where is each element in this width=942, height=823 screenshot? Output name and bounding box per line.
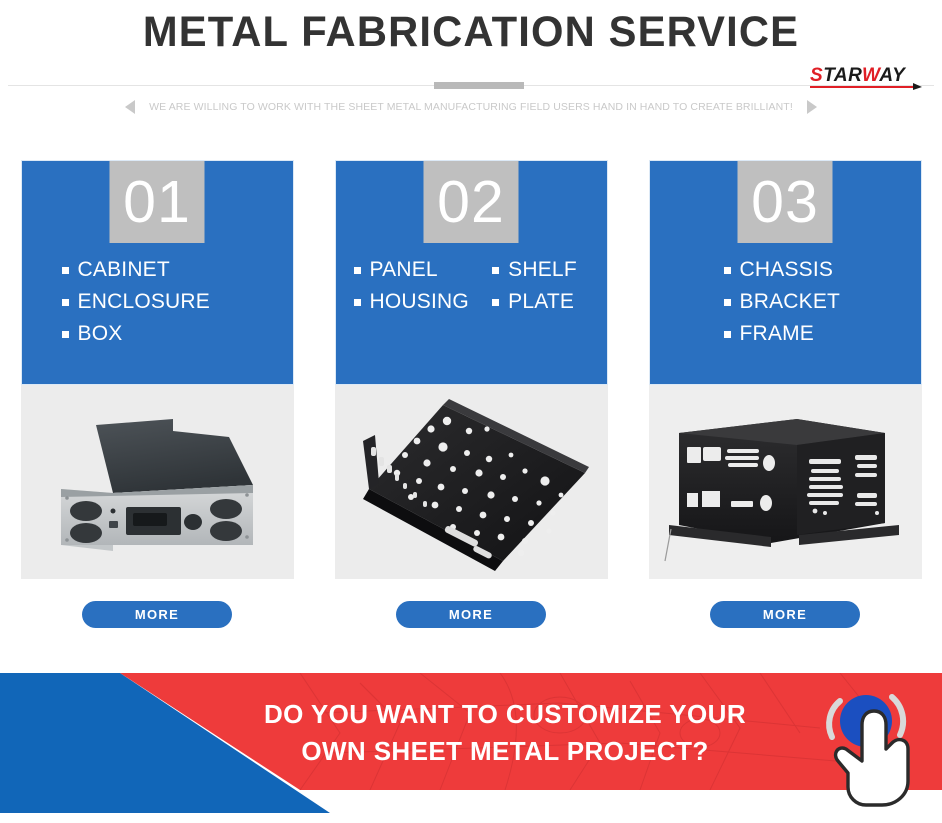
square-bullet-icon	[724, 267, 731, 274]
list-item-label: CHASSIS	[740, 257, 834, 283]
square-bullet-icon	[62, 267, 69, 274]
card-number-01: 01	[123, 173, 191, 232]
page-header: METAL FABRICATION SERVICE STARWAY WE ARE…	[0, 0, 942, 140]
card-bullet-area-01: CABINET ENCLOSURE BOX	[22, 257, 293, 347]
product-card-02: 02 PANEL HOUSING	[335, 160, 608, 628]
more-row-02: MORE	[335, 601, 608, 628]
perforated-panel-illustration	[335, 385, 608, 579]
list-item: HOUSING	[354, 289, 493, 315]
card-number-02: 02	[437, 173, 505, 232]
product-card-01: 01 CABINET ENCLOSURE BOX	[21, 160, 294, 628]
cta-line-2: OWN SHEET METAL PROJECT?	[180, 733, 830, 770]
list-item: CABINET	[62, 257, 279, 283]
list-item: BOX	[62, 321, 279, 347]
more-row-01: MORE	[21, 601, 294, 628]
logo-letters-tar: TAR	[823, 65, 862, 86]
list-item: ENCLOSURE	[62, 289, 279, 315]
metal-chassis-illustration	[649, 385, 922, 579]
more-row-03: MORE	[649, 601, 922, 628]
list-item-label: HOUSING	[370, 289, 469, 315]
square-bullet-icon	[354, 267, 361, 274]
logo-letter-s: S	[810, 65, 823, 86]
card-bullet-area-02: PANEL HOUSING SHELF	[336, 257, 607, 315]
list-item-label: PLATE	[508, 289, 574, 315]
cta-line-1: DO YOU WANT TO CUSTOMIZE YOUR	[180, 696, 830, 733]
square-bullet-icon	[62, 299, 69, 306]
list-item: PANEL	[354, 257, 493, 283]
card-number-badge-01: 01	[110, 161, 205, 243]
logo-wordmark: STARWAY	[810, 66, 905, 85]
square-bullet-icon	[354, 299, 361, 306]
list-item: CHASSIS	[724, 257, 907, 283]
card-number-badge-03: 03	[738, 161, 833, 243]
square-bullet-icon	[492, 267, 499, 274]
card-number-03: 03	[751, 173, 819, 232]
list-item: PLATE	[492, 289, 592, 315]
metal-cabinet-illustration	[21, 385, 294, 579]
square-bullet-icon	[492, 299, 499, 306]
product-image-02	[335, 385, 608, 579]
divider-tab	[434, 82, 524, 89]
square-bullet-icon	[724, 331, 731, 338]
logo-letter-w: W	[862, 65, 879, 86]
more-button-03[interactable]: MORE	[710, 601, 860, 628]
logo-letters-ay: AY	[879, 65, 905, 86]
cta-banner-text: DO YOU WANT TO CUSTOMIZE YOUR OWN SHEET …	[180, 696, 830, 770]
prev-arrow-icon[interactable]	[125, 100, 135, 114]
page-title: METAL FABRICATION SERVICE	[14, 0, 928, 57]
starway-logo: STARWAY	[810, 66, 914, 90]
logo-underline-swoosh	[810, 86, 914, 88]
list-item-label: PANEL	[370, 257, 438, 283]
product-image-01	[21, 385, 294, 579]
marquee-text: WE ARE WILLING TO WORK WITH THE SHEET ME…	[149, 101, 793, 113]
list-item-label: ENCLOSURE	[78, 289, 211, 315]
list-item-label: SHELF	[508, 257, 577, 283]
click-hand-icon[interactable]	[818, 677, 928, 812]
more-button-02[interactable]: MORE	[396, 601, 546, 628]
card-bullet-area-03: CHASSIS BRACKET FRAME	[650, 257, 921, 347]
list-item: BRACKET	[724, 289, 907, 315]
list-item: FRAME	[724, 321, 907, 347]
next-arrow-icon[interactable]	[807, 100, 817, 114]
list-item-label: BRACKET	[740, 289, 841, 315]
card-header-02: 02 PANEL HOUSING	[335, 160, 608, 385]
product-card-list: 01 CABINET ENCLOSURE BOX	[0, 160, 942, 628]
list-item-label: BOX	[78, 321, 123, 347]
card-number-badge-02: 02	[424, 161, 519, 243]
cta-banner[interactable]: DO YOU WANT TO CUSTOMIZE YOUR OWN SHEET …	[0, 663, 942, 823]
product-image-03	[649, 385, 922, 579]
card-header-01: 01 CABINET ENCLOSURE BOX	[21, 160, 294, 385]
list-item: SHELF	[492, 257, 592, 283]
list-item-label: FRAME	[740, 321, 815, 347]
marquee-banner: WE ARE WILLING TO WORK WITH THE SHEET ME…	[0, 100, 942, 114]
list-item-label: CABINET	[78, 257, 170, 283]
square-bullet-icon	[62, 331, 69, 338]
square-bullet-icon	[724, 299, 731, 306]
more-button-01[interactable]: MORE	[82, 601, 232, 628]
header-divider	[0, 81, 942, 91]
card-header-03: 03 CHASSIS BRACKET FRAME	[649, 160, 922, 385]
product-card-03: 03 CHASSIS BRACKET FRAME	[649, 160, 922, 628]
